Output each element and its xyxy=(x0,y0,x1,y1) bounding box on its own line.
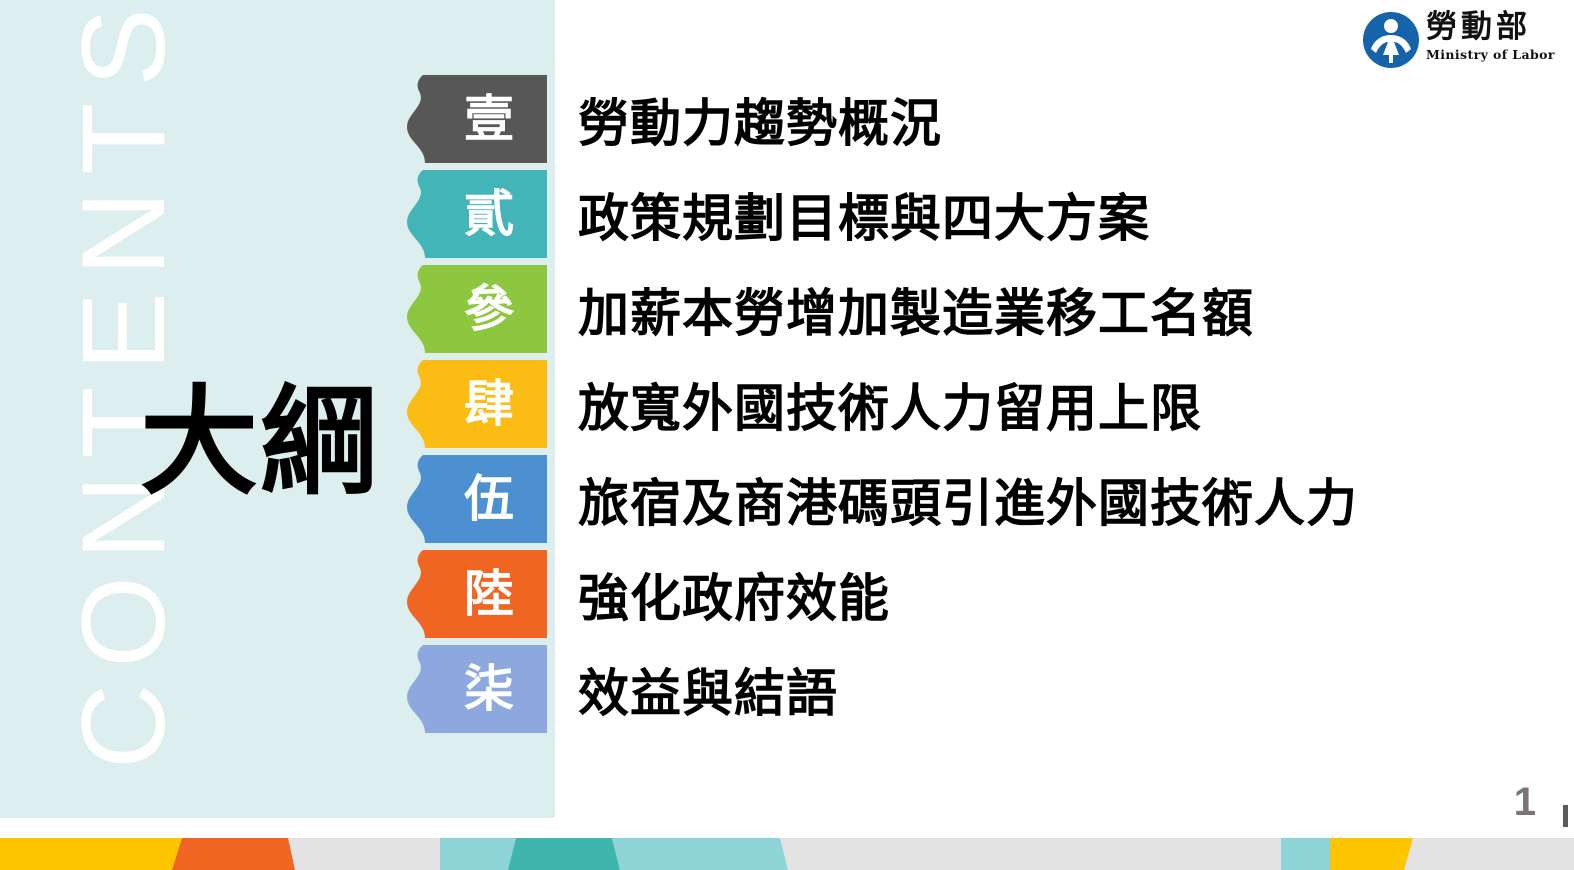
agenda-numeral: 伍 xyxy=(405,455,547,543)
agenda-badge-7[interactable]: 柒 xyxy=(405,645,547,733)
page-number: 1 xyxy=(1514,782,1536,822)
agenda-row[interactable]: 貳 政策規劃目標與四大方案 xyxy=(0,170,1574,265)
agenda-numeral: 貳 xyxy=(405,170,547,258)
agenda-badge-2[interactable]: 貳 xyxy=(405,170,547,258)
strip-shape-orange xyxy=(172,838,295,870)
agenda-badge-6[interactable]: 陸 xyxy=(405,550,547,638)
agenda-label: 旅宿及商港碼頭引進外國技術人力 xyxy=(578,455,1358,543)
ministry-emblem-icon xyxy=(1362,11,1420,69)
agenda-numeral: 壹 xyxy=(405,75,547,163)
agenda-numeral: 肆 xyxy=(405,360,547,448)
agenda-label: 加薪本勞增加製造業移工名額 xyxy=(578,265,1254,353)
agenda-row[interactable]: 壹 勞動力趨勢概況 xyxy=(0,75,1574,170)
ministry-of-labor-logo: 勞動部 Ministry of Labor xyxy=(1362,8,1552,74)
right-edge-marker xyxy=(1563,805,1568,827)
agenda-list: 壹 勞動力趨勢概況 貳 政策規劃目標與四大方案 參 加薪本勞增加製造業移工名額 … xyxy=(0,0,1574,818)
agenda-label: 效益與結語 xyxy=(578,645,838,733)
agenda-row[interactable]: 參 加薪本勞增加製造業移工名額 xyxy=(0,265,1574,360)
agenda-label: 強化政府效能 xyxy=(578,550,890,638)
agenda-row[interactable]: 柒 效益與結語 xyxy=(0,645,1574,740)
agenda-label: 放寬外國技術人力留用上限 xyxy=(578,360,1202,448)
agenda-row[interactable]: 肆 放寬外國技術人力留用上限 xyxy=(0,360,1574,455)
agenda-label: 勞動力趨勢概況 xyxy=(578,75,942,163)
agenda-badge-3[interactable]: 參 xyxy=(405,265,547,353)
strip-shape-light-teal-c xyxy=(1281,838,1330,870)
strip-shape-yellow-right xyxy=(1330,838,1413,870)
ministry-logo-text: 勞動部 Ministry of Labor xyxy=(1426,8,1552,62)
agenda-badge-5[interactable]: 伍 xyxy=(405,455,547,543)
ministry-name-cn: 勞動部 xyxy=(1426,8,1552,47)
strip-shape-teal xyxy=(508,838,620,870)
bottom-decoration-strip xyxy=(0,838,1574,870)
agenda-badge-4[interactable]: 肆 xyxy=(405,360,547,448)
strip-shape-light-teal-b xyxy=(612,838,788,870)
strip-shape-yellow-left xyxy=(0,838,182,870)
agenda-numeral: 柒 xyxy=(405,645,547,733)
agenda-row[interactable]: 陸 強化政府效能 xyxy=(0,550,1574,645)
agenda-row[interactable]: 伍 旅宿及商港碼頭引進外國技術人力 xyxy=(0,455,1574,550)
agenda-badge-1[interactable]: 壹 xyxy=(405,75,547,163)
agenda-numeral: 參 xyxy=(405,265,547,353)
agenda-numeral: 陸 xyxy=(405,550,547,638)
ministry-name-en: Ministry of Labor xyxy=(1426,47,1552,62)
strip-shape-light-teal-a xyxy=(440,838,516,870)
agenda-label: 政策規劃目標與四大方案 xyxy=(578,170,1150,258)
